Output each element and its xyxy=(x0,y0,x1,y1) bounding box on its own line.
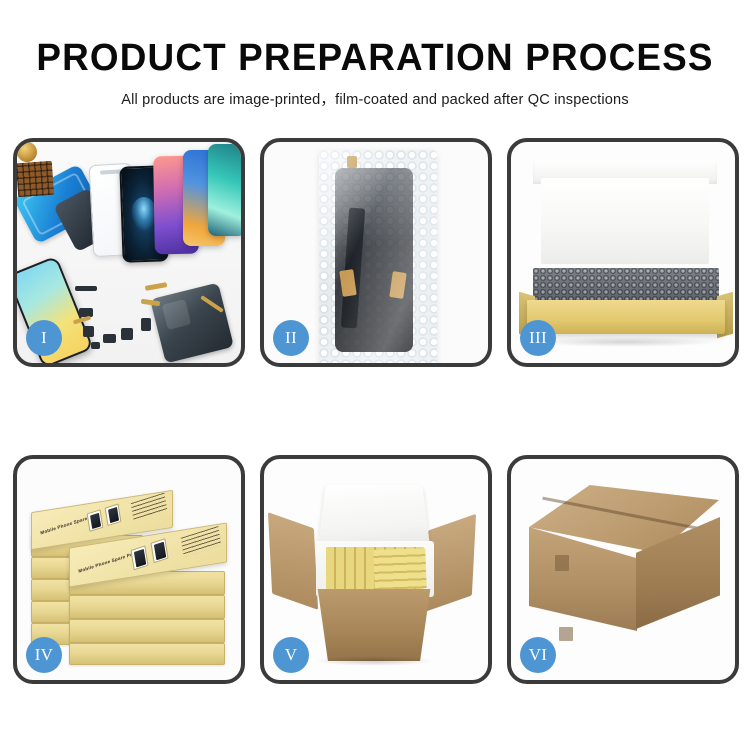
product-preparation-process-page: PRODUCT PREPARATION PROCESS All products… xyxy=(0,0,750,750)
chip-part xyxy=(103,334,116,343)
logic-board xyxy=(17,161,54,197)
process-step-panel-2[interactable]: II xyxy=(260,138,492,367)
chip-part xyxy=(75,286,97,291)
box-stack: Mobile Phone Spare Parts Mobile Phone Sp… xyxy=(29,475,235,671)
step-badge-2: II xyxy=(273,320,309,356)
step-badge-6: VI xyxy=(520,637,556,673)
teal-gradient-phone xyxy=(208,144,241,236)
drop-shadow xyxy=(314,656,434,666)
carton-left-flap xyxy=(268,512,318,610)
page-subtitle: All products are image-printed，film-coat… xyxy=(0,88,750,109)
step-badge-5: V xyxy=(273,637,309,673)
process-step-panel-5[interactable]: V xyxy=(260,455,492,684)
page-title: PRODUCT PREPARATION PROCESS xyxy=(11,38,739,79)
box-product-image xyxy=(150,538,168,563)
stacked-box xyxy=(69,595,225,619)
box-spec-lines xyxy=(181,526,222,557)
flex-cable xyxy=(145,282,168,291)
yellow-boxes-inside xyxy=(373,548,426,590)
drop-shadow xyxy=(533,337,719,347)
white-foam-lid xyxy=(541,178,709,264)
phone-chassis xyxy=(150,283,234,363)
step-badge-1: I xyxy=(26,320,62,356)
box-product-image xyxy=(130,545,148,570)
carton-tape-patch xyxy=(559,627,573,641)
chip-part xyxy=(91,342,100,349)
process-step-panel-6[interactable]: VI xyxy=(507,455,739,684)
adhesive-tape xyxy=(347,156,357,168)
foam-box-lid xyxy=(318,485,431,549)
process-step-panel-1[interactable]: I xyxy=(13,138,245,367)
bubble-wrap-bag xyxy=(319,150,437,363)
chip-part xyxy=(121,328,133,340)
stacked-box xyxy=(69,643,225,665)
stacked-box xyxy=(69,619,225,643)
box-spec-lines xyxy=(131,493,167,521)
process-step-panel-4[interactable]: Mobile Phone Spare Parts Mobile Phone Sp… xyxy=(13,455,245,684)
carton-front-face xyxy=(310,589,438,661)
step-badge-3: III xyxy=(520,320,556,356)
process-step-panel-3[interactable]: III xyxy=(507,138,739,367)
process-step-grid: I II xyxy=(13,138,739,684)
box-product-image xyxy=(87,509,104,532)
taptic-speaker-disc xyxy=(17,142,37,162)
chip-part xyxy=(83,326,94,337)
header: PRODUCT PREPARATION PROCESS All products… xyxy=(0,38,750,109)
gray-foam-insert xyxy=(533,268,719,302)
chip-part xyxy=(141,318,151,331)
step-badge-4: IV xyxy=(26,637,62,673)
yellow-box-front xyxy=(527,300,725,334)
box-product-image xyxy=(105,503,122,526)
carton-tape-patch xyxy=(555,555,569,571)
